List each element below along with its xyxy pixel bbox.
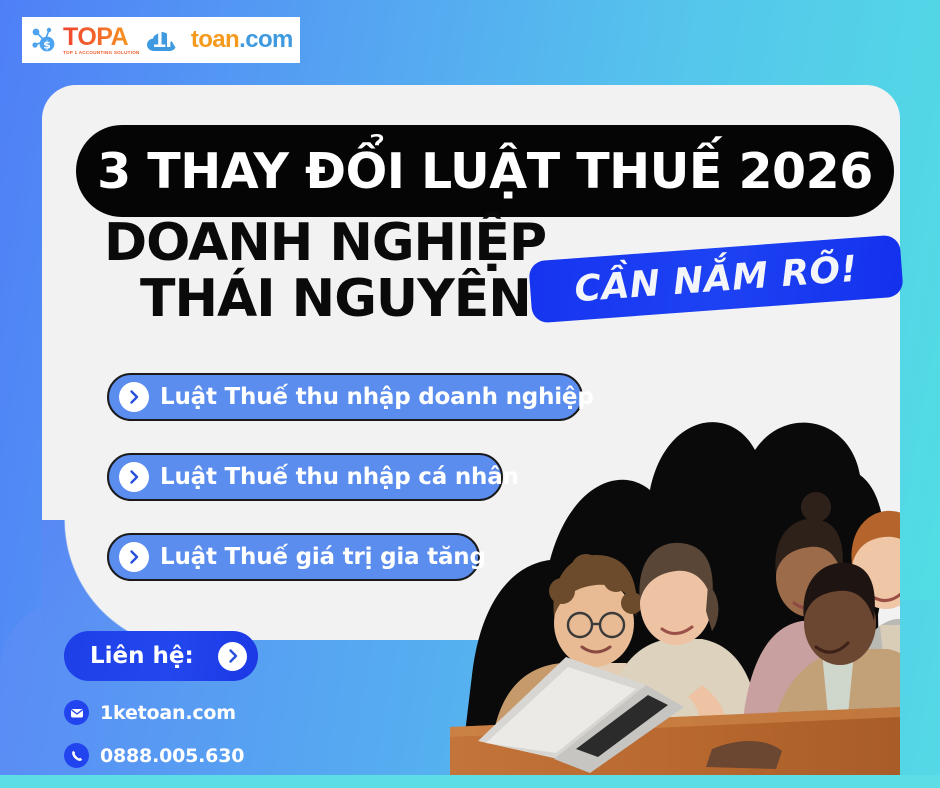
bottom-cyan-strip	[0, 775, 940, 788]
highlight-badge-text: CẦN NẮM RÕ!	[573, 248, 859, 310]
1ketoan-logo[interactable]: 1ketoan.com	[146, 26, 293, 54]
bullet-label: Luật Thuế thu nhập doanh nghiệp	[160, 384, 594, 410]
topa-tagline: TOP 1 ACCOUNTING SOLUTION	[63, 51, 140, 56]
headline-pill: 3 THAY ĐỔI LUẬT THUẾ 2026	[76, 125, 894, 217]
1ketoan-part-3: .com	[239, 26, 293, 53]
chevron-right-icon	[119, 542, 149, 572]
phone-icon	[64, 743, 89, 768]
chevron-right-icon	[218, 642, 247, 671]
envelope-icon	[64, 700, 89, 725]
bullet-item-personal-income-tax[interactable]: Luật Thuế thu nhập cá nhân	[107, 453, 503, 501]
logo-bar: $ TOPA TOP 1 ACCOUNTING SOLUTION 1ketoan…	[22, 17, 300, 63]
bullet-item-corporate-income-tax[interactable]: Luật Thuế thu nhập doanh nghiệp	[107, 373, 583, 421]
headline-pill-text: 3 THAY ĐỔI LUẬT THUẾ 2026	[97, 143, 873, 200]
bullet-label: Luật Thuế giá trị gia tăng	[160, 544, 486, 570]
contact-cta-label: Liên hệ:	[90, 643, 194, 669]
network-dollar-icon: $	[30, 25, 60, 55]
chevron-right-icon	[119, 382, 149, 412]
topa-wordmark: TOPA	[63, 25, 140, 50]
bullet-label: Luật Thuế thu nhập cá nhân	[160, 464, 519, 490]
contact-phone-value: 0888.005.630	[100, 745, 244, 767]
svg-text:$: $	[43, 38, 51, 51]
chevron-right-icon	[119, 462, 149, 492]
bullet-item-value-added-tax[interactable]: Luật Thuế giá trị gia tăng	[107, 533, 480, 581]
contact-cta-button[interactable]: Liên hệ:	[64, 631, 258, 681]
contact-email-row[interactable]: 1ketoan.com	[64, 700, 236, 725]
1ketoan-part-1: 1ke	[153, 26, 191, 53]
contact-phone-row[interactable]: 0888.005.630	[64, 743, 244, 768]
1ketoan-part-2: toan	[191, 26, 239, 53]
contact-email-value: 1ketoan.com	[100, 702, 236, 724]
topa-logo[interactable]: $ TOPA TOP 1 ACCOUNTING SOLUTION	[30, 25, 140, 56]
poster-canvas: $ TOPA TOP 1 ACCOUNTING SOLUTION 1ketoan…	[0, 0, 940, 788]
